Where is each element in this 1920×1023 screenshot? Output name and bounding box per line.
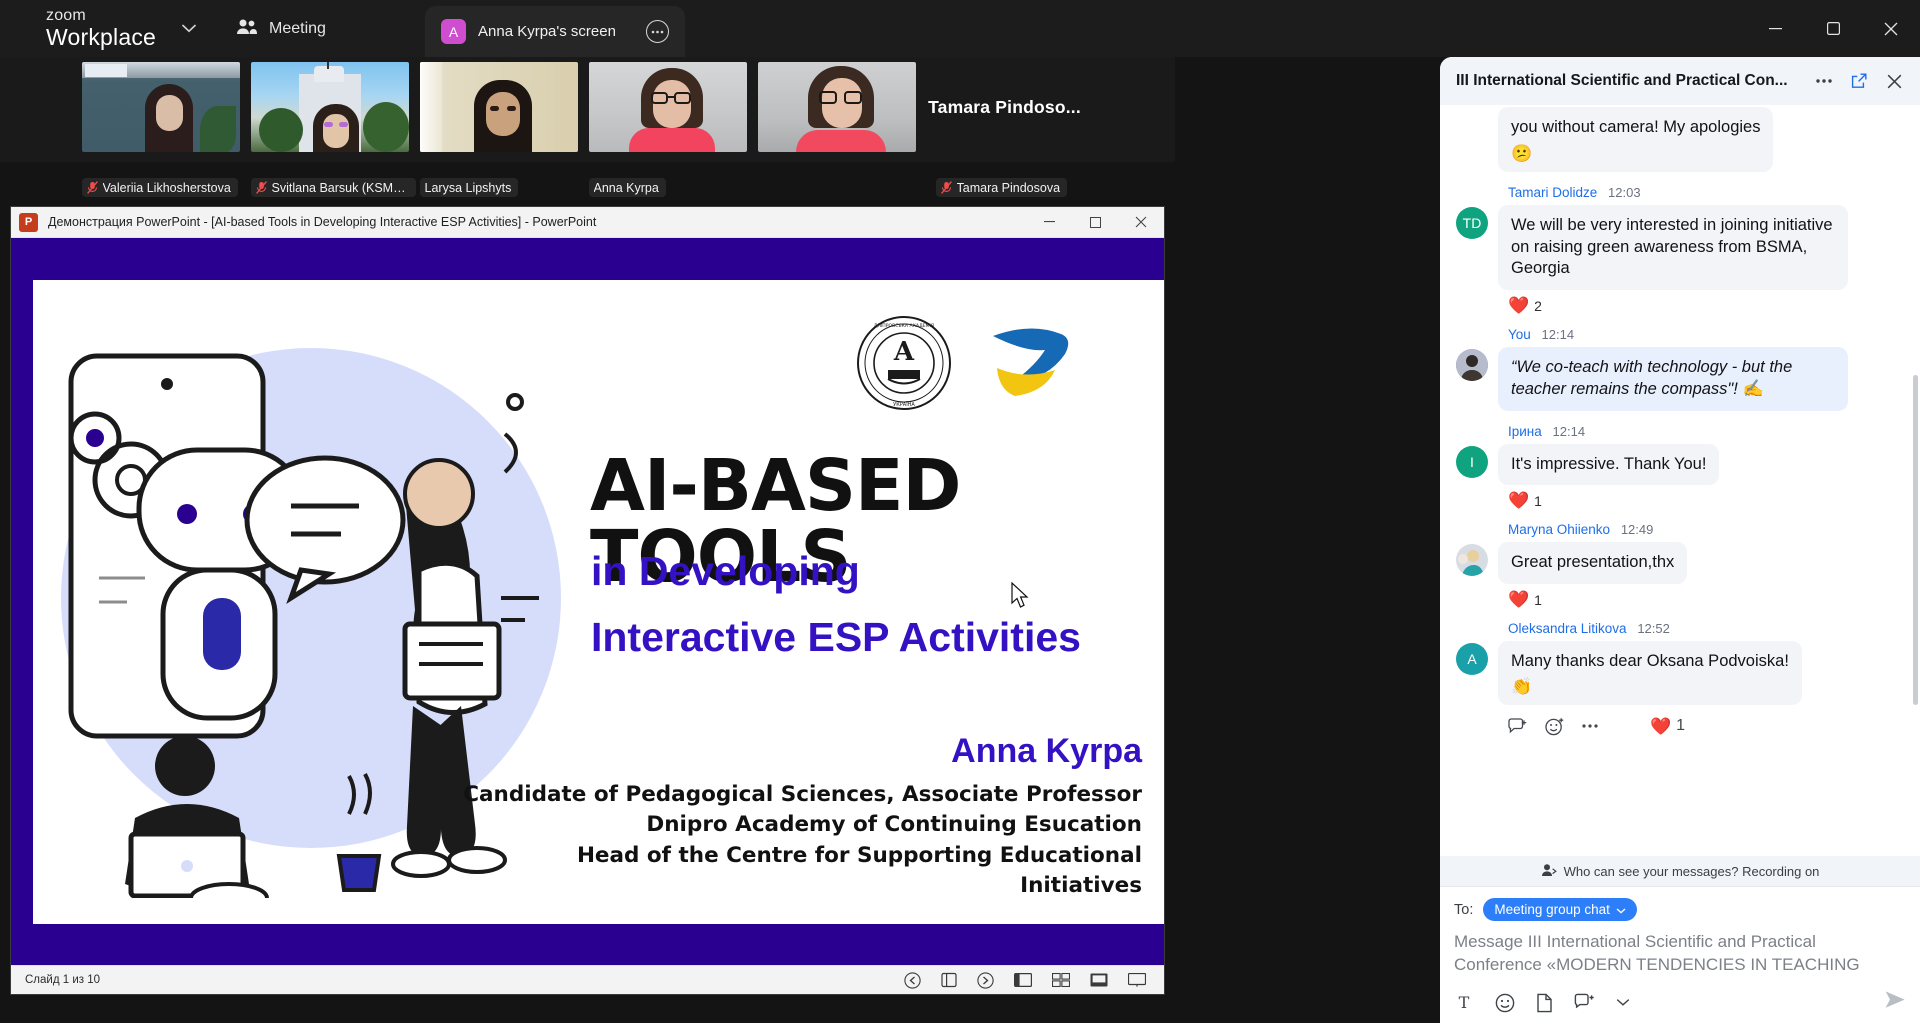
chat-bubble[interactable]: It's impressive. Thank You!	[1498, 444, 1719, 486]
chat-message-list[interactable]: you without camera! My apologies 😕 Tamar…	[1440, 105, 1920, 856]
chat-bubble[interactable]: Great presentation,thx	[1498, 542, 1687, 584]
previous-slide-icon[interactable]	[904, 972, 921, 989]
zoom-logo-line1: zoom	[46, 8, 156, 25]
participant-tile[interactable]: Anna Kyrpa	[589, 62, 747, 174]
participant-name: Anna Kyrpa	[594, 181, 659, 195]
svg-text:A: A	[893, 337, 915, 367]
zoom-logo-line2: Workplace	[46, 25, 156, 49]
participant-tile[interactable]: Valeriia Likhosherstova	[82, 62, 240, 174]
participant-tile[interactable]: Tamara Pindoso... Tamara Pindosova	[758, 62, 1094, 174]
chat-recipient-row: To: Meeting group chat	[1454, 898, 1906, 921]
mic-muted-icon	[941, 181, 952, 194]
svg-text:T: T	[1459, 993, 1470, 1012]
powerpoint-status-bar: Слайд 1 из 10	[11, 965, 1164, 994]
chat-message-text: you without camera! My apologies	[1511, 118, 1760, 136]
heart-icon: ❤️	[1508, 591, 1529, 608]
file-icon[interactable]	[1536, 993, 1553, 1013]
reply-icon[interactable]	[1508, 718, 1527, 735]
reaction-count: 1	[1534, 493, 1542, 509]
slide-credits-line2: Dnipro Academy of Continuing Esucation	[312, 810, 1142, 841]
svg-text:ДНІПРОВСЬКА АКАДЕМІЯ: ДНІПРОВСЬКА АКАДЕМІЯ	[874, 323, 934, 329]
avatar[interactable]: TD	[1456, 207, 1488, 239]
privacy-note-text: Who can see your messages? Recording on	[1564, 864, 1820, 879]
chat-message-row: “We co-teach with technology - but the t…	[1456, 347, 1910, 411]
pop-out-icon[interactable]	[1846, 68, 1872, 94]
reaction-count: 1	[1534, 592, 1542, 608]
chevron-down-icon[interactable]	[178, 18, 200, 40]
avatar[interactable]	[1456, 544, 1488, 576]
participant-name: Valeriia Likhosherstova	[103, 181, 231, 195]
slide-credits-line4: Initiatives	[312, 871, 1142, 902]
avatar-initials: A	[1467, 651, 1476, 667]
video-feed	[82, 62, 240, 152]
chat-bubble[interactable]: We will be very interested in joining in…	[1498, 205, 1848, 290]
chevron-down-icon	[1616, 902, 1626, 917]
reaction-heart[interactable]: ❤️ 1	[1650, 717, 1685, 735]
heart-icon: ❤️	[1508, 492, 1529, 509]
chat-message-row: you without camera! My apologies 😕	[1456, 107, 1910, 172]
chat-message-meta: You 12:14	[1508, 327, 1910, 342]
slide-credits-line3: Head of the Centre for Supporting Educat…	[312, 841, 1142, 872]
chat-reactions: ❤️ 1	[1508, 492, 1910, 509]
chat-timestamp: 12:03	[1608, 185, 1641, 200]
participant-video[interactable]	[758, 62, 916, 152]
powerpoint-title-bar: P Демонстрация PowerPoint - [AI-based To…	[11, 207, 1164, 238]
bird-wing-logo	[985, 320, 1080, 405]
chat-author[interactable]: Maryna Ohiienko	[1508, 522, 1610, 537]
status-bar-tools	[904, 972, 1164, 989]
avatar[interactable]: I	[1456, 446, 1488, 478]
chat-message-emoji: 😕	[1511, 145, 1760, 162]
chat-message-meta: Oleksandra Litikova 12:52	[1508, 621, 1910, 636]
chat-author[interactable]: Ірина	[1508, 424, 1542, 439]
mouse-cursor	[1011, 582, 1031, 614]
video-feed	[420, 62, 578, 152]
meeting-tab-label: Meeting	[269, 20, 326, 38]
chat-privacy-notice[interactable]: Who can see your messages? Recording on	[1440, 856, 1920, 886]
avatar[interactable]: A	[1456, 643, 1488, 675]
more-options-icon[interactable]	[646, 20, 669, 43]
chat-message-text: Many thanks dear Oksana Podvoiska!	[1511, 652, 1789, 670]
presentation-slide: A ДНІПРОВСЬКА АКАДЕМІЯ УКРАЇНА AI-BASED …	[33, 280, 1164, 924]
to-label: To:	[1454, 902, 1473, 918]
tab-avatar: A	[441, 19, 466, 44]
chevron-down-icon[interactable]	[1616, 998, 1630, 1007]
chat-bubble[interactable]: Many thanks dear Oksana Podvoiska! 👏	[1498, 641, 1802, 705]
powerpoint-window: P Демонстрация PowerPoint - [AI-based To…	[11, 207, 1164, 994]
meeting-tab[interactable]: Meeting	[228, 12, 334, 46]
heart-icon: ❤️	[1508, 297, 1529, 314]
slide-author: Anna Kyrpa	[951, 732, 1142, 771]
emoji-icon[interactable]	[1495, 993, 1515, 1013]
chat-header: III International Scientific and Practic…	[1440, 57, 1920, 105]
privacy-person-icon	[1541, 863, 1557, 880]
normal-view-icon[interactable]	[1014, 973, 1032, 987]
chat-message: Maryna Ohiienko 12:49 Great presentation…	[1456, 522, 1910, 608]
participant-name-large: Tamara Pindoso...	[916, 62, 1094, 152]
chat-reactions: ❤️ 1	[1508, 591, 1910, 608]
slide-subtitle-line1: in Developing	[591, 548, 860, 595]
more-options-icon[interactable]	[1811, 68, 1837, 94]
powerpoint-close-button[interactable]	[1118, 207, 1164, 238]
chat-message-row: Great presentation,thx	[1456, 542, 1910, 584]
send-icon[interactable]	[1884, 990, 1906, 1015]
avatar-initials: I	[1470, 454, 1474, 470]
participant-name-badge: Larysa Lipshyts	[420, 178, 519, 197]
zoom-logo: zoom Workplace	[46, 8, 156, 49]
compose-toolbar: T	[1454, 983, 1906, 1015]
zoom-meeting-window: zoom Workplace Meeting A Anna Kyrpa's sc…	[0, 0, 1920, 1023]
chat-scrollbar[interactable]	[1913, 375, 1918, 705]
participant-video-active-speaker[interactable]	[420, 62, 578, 152]
chat-compose-area: To: Meeting group chat Message III Inter…	[1440, 886, 1920, 1023]
close-button[interactable]	[1862, 0, 1920, 57]
video-feed	[251, 62, 409, 152]
chat-message: Tamari Dolidze 12:03 TD We will be very …	[1456, 185, 1910, 314]
participant-video[interactable]	[589, 62, 747, 152]
message-input[interactable]: Message III International Scientific and…	[1454, 931, 1906, 983]
more-icon[interactable]	[1582, 724, 1598, 728]
slide-credits: Candidate of Pedagogical Sciences, Assoc…	[312, 780, 1142, 902]
chat-bubble[interactable]: you without camera! My apologies 😕	[1498, 107, 1773, 172]
participant-name-badge: Svitlana Barsuk (KSMA...	[251, 178, 416, 197]
chat-timestamp: 12:14	[1553, 424, 1586, 439]
next-slide-icon[interactable]	[977, 972, 994, 989]
chat-title: III International Scientific and Practic…	[1456, 72, 1802, 90]
chat-bubble[interactable]: “We co-teach with technology - but the t…	[1498, 347, 1848, 411]
participant-video[interactable]	[82, 62, 240, 152]
video-feed	[758, 62, 916, 152]
chat-timestamp: 12:14	[1542, 327, 1575, 342]
video-feed	[589, 62, 747, 152]
tab-shared-screen[interactable]: A Anna Kyrpa's screen	[425, 6, 685, 57]
participant-name: Svitlana Barsuk (KSMA...	[272, 181, 409, 195]
reaction-heart[interactable]: ❤️ 1	[1508, 591, 1542, 608]
heart-icon: ❤️	[1650, 718, 1671, 735]
avatar-initials: TD	[1463, 215, 1482, 231]
window-controls	[1746, 0, 1920, 57]
powerpoint-title: Демонстрация PowerPoint - [AI-based Tool…	[48, 215, 596, 229]
chat-message: You 12:14 “We co-teach with technology -…	[1456, 327, 1910, 411]
chat-author[interactable]: Oleksandra Litikova	[1508, 621, 1627, 636]
participant-name-badge: Anna Kyrpa	[589, 178, 666, 197]
mic-muted-icon	[256, 181, 267, 194]
participant-video[interactable]	[251, 62, 409, 152]
chat-message: Oleksandra Litikova 12:52 A Many thanks …	[1456, 621, 1910, 736]
academy-emblem-logo: A ДНІПРОВСЬКА АКАДЕМІЯ УКРАЇНА	[855, 314, 953, 412]
chat-author[interactable]: Tamari Dolidze	[1508, 185, 1597, 200]
minimize-button[interactable]	[1746, 0, 1804, 57]
react-icon[interactable]	[1545, 717, 1564, 736]
chat-message: you without camera! My apologies 😕	[1456, 107, 1910, 172]
slide-credits-line1: Candidate of Pedagogical Sciences, Assoc…	[312, 780, 1142, 811]
chat-panel: III International Scientific and Practic…	[1440, 57, 1920, 1023]
powerpoint-minimize-button[interactable]	[1026, 207, 1072, 238]
chat-message-emoji: ✍️	[1742, 379, 1763, 398]
chat-message-hover-toolbar: ❤️ 1	[1508, 717, 1910, 736]
participant-name-badge: Valeriia Likhosherstova	[82, 178, 238, 197]
slideshow-icon[interactable]	[1128, 973, 1146, 987]
participant-tile[interactable]: Svitlana Barsuk (KSMA...	[251, 62, 409, 174]
reaction-count: 1	[1676, 717, 1685, 735]
title-bar: zoom Workplace Meeting A Anna Kyrpa's sc…	[0, 0, 1920, 57]
presenter-notes-icon[interactable]	[941, 972, 957, 988]
powerpoint-maximize-button[interactable]	[1072, 207, 1118, 238]
slide-sorter-icon[interactable]	[1052, 973, 1070, 987]
reaction-count: 2	[1534, 298, 1542, 314]
powerpoint-window-controls	[1026, 207, 1164, 238]
participant-tile[interactable]: Larysa Lipshyts	[420, 62, 578, 174]
participant-filmstrip: Valeriia Likhosherstova	[0, 57, 1175, 162]
chat-timestamp: 12:52	[1637, 621, 1670, 636]
participant-name: Tamara Pindosova	[957, 181, 1061, 195]
chat-author[interactable]: You	[1508, 327, 1531, 342]
chat-reactions: ❤️ 2	[1508, 297, 1910, 314]
slide-subtitle-line2: Interactive ESP Activities	[591, 614, 1081, 661]
chat-message-meta: Maryna Ohiienko 12:49	[1508, 522, 1910, 537]
slide-stage: A ДНІПРОВСЬКА АКАДЕМІЯ УКРАЇНА AI-BASED …	[11, 238, 1164, 965]
recipient-label: Meeting group chat	[1494, 902, 1610, 917]
reading-view-icon[interactable]	[1090, 973, 1108, 987]
participant-name: Larysa Lipshyts	[425, 181, 512, 195]
chat-message-meta: Tamari Dolidze 12:03	[1508, 185, 1910, 200]
reaction-heart[interactable]: ❤️ 2	[1508, 297, 1542, 314]
chat-message-meta: Ірина 12:14	[1508, 424, 1910, 439]
recipient-selector[interactable]: Meeting group chat	[1483, 898, 1637, 921]
avatar[interactable]	[1456, 349, 1488, 381]
participant-name-badge: Tamara Pindosova	[936, 178, 1068, 197]
tab-title: Anna Kyrpa's screen	[478, 23, 616, 40]
chat-timestamp: 12:49	[1621, 522, 1654, 537]
close-icon[interactable]	[1881, 68, 1907, 94]
chat-message-row: TD We will be very interested in joining…	[1456, 205, 1910, 290]
format-text-icon[interactable]: T	[1454, 993, 1474, 1012]
chat-message: Ірина 12:14 I It's impressive. Thank You…	[1456, 424, 1910, 510]
screenshot-icon[interactable]	[1574, 993, 1595, 1013]
reaction-heart[interactable]: ❤️ 1	[1508, 492, 1542, 509]
chat-message-row: A Many thanks dear Oksana Podvoiska! 👏	[1456, 641, 1910, 705]
slide-counter: Слайд 1 из 10	[25, 974, 100, 986]
chat-message-row: I It's impressive. Thank You!	[1456, 444, 1910, 486]
powerpoint-app-icon: P	[19, 213, 38, 232]
svg-text:УКРАЇНА: УКРАЇНА	[893, 401, 915, 408]
mic-muted-icon	[87, 181, 98, 194]
maximize-button[interactable]	[1804, 0, 1862, 57]
chat-message-emoji: 👏	[1511, 678, 1789, 695]
people-icon	[236, 18, 258, 40]
